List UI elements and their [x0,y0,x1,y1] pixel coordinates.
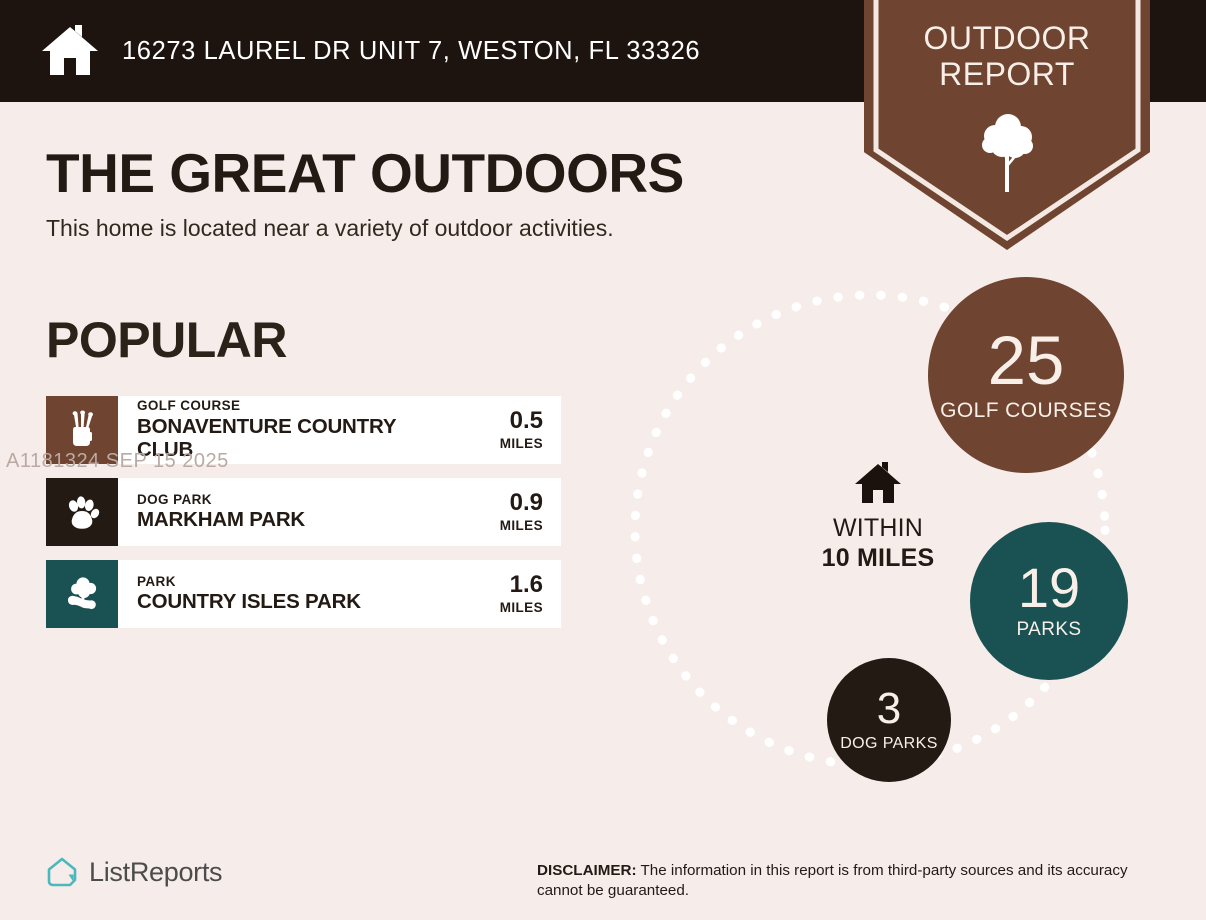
poi-distance-unit: MILES [500,518,543,533]
poi-distance-value: 0.5 [510,409,543,433]
listreports-logo[interactable]: ListReports [46,856,222,888]
poi-name: BONAVENTURE COUNTRY CLUB [137,416,437,462]
stat-count: 3 [877,688,901,730]
poi-distance-unit: MILES [500,600,543,615]
poi-text: PARK COUNTRY ISLES PARK [118,560,500,628]
badge-line-2: REPORT [864,56,1150,92]
outdoor-report-page: 16273 LAUREL DR UNIT 7, WESTON, FL 33326… [0,0,1206,920]
list-item[interactable]: DOG PARK MARKHAM PARK 0.9 MILES [46,478,561,546]
stat-label: PARKS [1016,620,1081,640]
stat-label: DOG PARKS [840,735,938,752]
poi-category: PARK [137,574,500,590]
page-title: THE GREAT OUTDOORS [46,141,684,205]
home-icon [853,462,903,505]
poi-distance-unit: MILES [500,436,543,451]
badge-line-1: OUTDOOR [864,20,1150,56]
listreports-house-icon [46,856,78,888]
poi-distance: 0.5 MILES [500,396,561,464]
poi-text: DOG PARK MARKHAM PARK [118,478,500,546]
disclaimer-label: DISCLAIMER: [537,862,637,879]
poi-icon-box [46,560,118,628]
center-line-1: WITHIN [778,514,978,544]
tree-icon [975,112,1039,194]
list-item[interactable]: GOLF COURSE BONAVENTURE COUNTRY CLUB 0.5… [46,396,561,464]
stat-circle-dog-parks[interactable]: 3 DOG PARKS [827,658,951,782]
poi-category: DOG PARK [137,492,500,508]
poi-name: COUNTRY ISLES PARK [137,591,437,614]
poi-distance-value: 0.9 [510,491,543,515]
stat-circle-golf-courses[interactable]: 25 GOLF COURSES [928,277,1124,473]
poi-icon-box [46,478,118,546]
poi-text: GOLF COURSE BONAVENTURE COUNTRY CLUB [118,396,500,464]
center-line-2: 10 MILES [778,544,978,574]
section-title-popular: POPULAR [46,311,287,369]
poi-name: MARKHAM PARK [137,509,437,532]
header-address: 16273 LAUREL DR UNIT 7, WESTON, FL 33326 [122,37,700,66]
page-subtitle: This home is located near a variety of o… [46,215,614,242]
poi-category: GOLF COURSE [137,398,500,414]
poi-distance-value: 1.6 [510,573,543,597]
paw-print-icon [62,492,102,532]
within-10-miles-diagram: 25 GOLF COURSES 19 PARKS 3 DOG PARKS WIT… [600,250,1206,810]
stat-circle-parks[interactable]: 19 PARKS [970,522,1128,680]
diagram-center: WITHIN 10 MILES [778,462,978,573]
stat-label: GOLF COURSES [940,400,1112,422]
park-tree-icon [62,574,102,614]
listreports-logo-text: ListReports [89,857,222,888]
poi-icon-box [46,396,118,464]
list-item[interactable]: PARK COUNTRY ISLES PARK 1.6 MILES [46,560,561,628]
stat-count: 19 [1018,561,1080,615]
center-caption: WITHIN 10 MILES [778,514,978,573]
disclaimer: DISCLAIMER: The information in this repo… [537,861,1177,901]
stat-count: 25 [988,328,1065,394]
badge-title: OUTDOOR REPORT [864,20,1150,93]
poi-distance: 1.6 MILES [500,560,561,628]
poi-distance: 0.9 MILES [500,478,561,546]
golf-bag-icon [62,410,102,450]
popular-list: GOLF COURSE BONAVENTURE COUNTRY CLUB 0.5… [46,396,561,642]
home-icon [40,25,100,77]
